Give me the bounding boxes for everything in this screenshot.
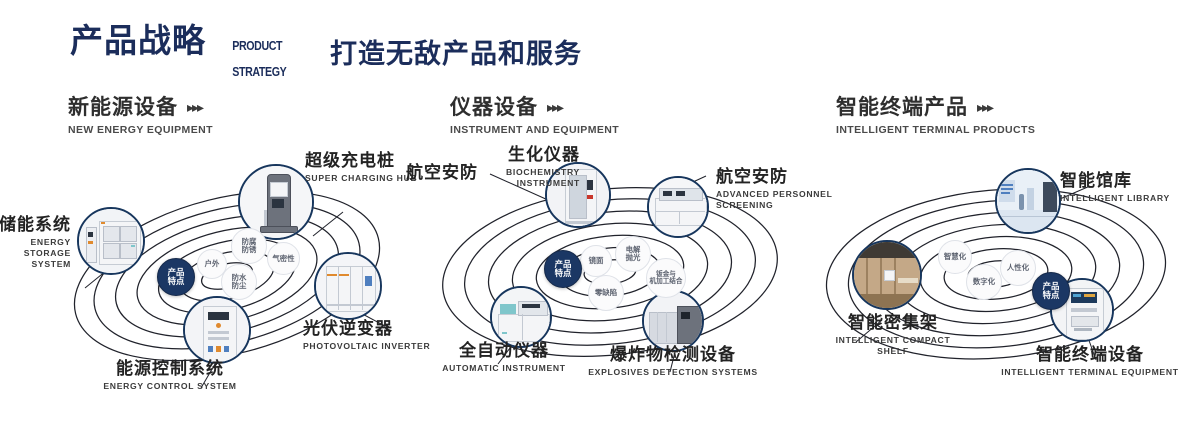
feature-label: 零缺陷 <box>595 289 617 297</box>
energy-control-system-image <box>185 298 249 362</box>
chevron-right-icon: ▸▸▸ <box>977 99 992 116</box>
label-energy-storage-system: 储能系统 ENERGY STORAGE SYSTEM <box>0 216 71 270</box>
node-automatic-instrument[interactable] <box>490 286 552 348</box>
section-header-instrument: 仪器设备 ▸▸▸ INSTRUMENT AND EQUIPMENT <box>450 95 619 136</box>
label-cn: 储能系统 <box>0 216 71 235</box>
core-bubble-product-features: 产品 特点 <box>157 258 195 296</box>
feature-bubble-humanization: 人性化 <box>1000 250 1036 286</box>
feature-label: 人性化 <box>1007 264 1029 272</box>
feature-label: 防腐 防锈 <box>242 238 257 254</box>
section-title-en: NEW ENERGY EQUIPMENT <box>68 124 213 136</box>
advanced-personnel-screening-image <box>649 178 707 236</box>
slide-canvas: 产品战略 PRODUCT STRATEGY 打造无敌产品和服务 新能源设备 ▸▸… <box>0 0 1200 422</box>
feature-bubble-sheetmetal-machining: 钣金与 机加工结合 <box>646 258 686 298</box>
feature-label: 钣金与 机加工结合 <box>650 271 683 285</box>
feature-label: 数字化 <box>973 278 995 286</box>
intelligent-compact-shelf-image <box>854 242 920 308</box>
section-header-new-energy: 新能源设备 ▸▸▸ NEW ENERGY EQUIPMENT <box>68 95 213 136</box>
page-headline: 打造无敌产品和服务 <box>330 32 582 71</box>
label-cn: 智能终端设备 <box>990 346 1190 365</box>
feature-bubble-mirror-finish: 镜面 <box>580 245 612 277</box>
label-explosives-detection-systems: 爆炸物检测设备 EXPLOSIVES DETECTION SYSTEMS <box>566 346 780 378</box>
feature-bubble-anticorrosion: 防腐 防锈 <box>231 228 267 264</box>
feature-label: 镜面 <box>589 257 604 265</box>
intelligent-library-image <box>997 170 1059 232</box>
label-intelligent-library: 智能馆库 INTELLIGENT LIBRARY <box>1060 172 1200 204</box>
core-label: 产品 特点 <box>168 268 185 286</box>
label-en: INTELLIGENT COMPACT SHELF <box>798 335 988 357</box>
node-energy-storage-system[interactable] <box>77 207 145 275</box>
node-energy-control-system[interactable] <box>183 296 251 364</box>
diagram-cluster-new-energy: 储能系统 ENERGY STORAGE SYSTEM 超级充电桩 SUPER C… <box>55 150 415 400</box>
explosives-detection-systems-image <box>644 292 702 350</box>
label-intelligent-terminal-equipment: 智能终端设备 INTELLIGENT TERMINAL EQUIPMENT <box>990 346 1190 378</box>
energy-storage-system-image <box>79 209 143 273</box>
diagram-cluster-intelligent-terminal: 智能馆库 INTELLIGENT LIBRARY 智能密集架 INTELLIGE… <box>810 150 1190 400</box>
section-title-en: INSTRUMENT AND EQUIPMENT <box>450 124 619 136</box>
label-cn: 智能馆库 <box>1060 172 1200 191</box>
label-en: INTELLIGENT TERMINAL EQUIPMENT <box>990 367 1190 378</box>
section-title-cn: 新能源设备 <box>68 95 178 119</box>
feature-bubble-zero-defect: 零缺陷 <box>588 275 624 311</box>
feature-bubble-electropolishing: 电解 抛光 <box>615 236 651 272</box>
label-cn: 能源控制系统 <box>75 360 265 379</box>
feature-bubble-waterproof-dustproof: 防水 防尘 <box>221 264 257 300</box>
feature-label: 防水 防尘 <box>232 274 247 290</box>
label-biochemistry-instrument: 生化仪器 BIOCHEMISTRY INSTRUMENT <box>440 146 580 189</box>
core-label: 产品 特点 <box>555 260 572 278</box>
section-title-cn: 仪器设备 <box>450 95 538 119</box>
label-en: ENERGY STORAGE SYSTEM <box>0 237 71 270</box>
section-title-en: INTELLIGENT TERMINAL PRODUCTS <box>836 124 1035 136</box>
label-cn: 生化仪器 <box>440 146 580 165</box>
automatic-instrument-image <box>492 288 550 346</box>
diagram-cluster-instrument: 航空安防 生化仪器 BIOCHEMISTRY INSTRUMENT 航空安防 A… <box>420 150 800 400</box>
label-en: ENERGY CONTROL SYSTEM <box>75 381 265 392</box>
feature-label: 户外 <box>205 260 220 268</box>
node-intelligent-compact-shelf[interactable] <box>852 240 922 310</box>
feature-label: 电解 抛光 <box>626 246 641 262</box>
label-energy-control-system: 能源控制系统 ENERGY CONTROL SYSTEM <box>75 360 265 392</box>
label-cn: 智能密集架 <box>798 314 988 333</box>
section-title-cn: 智能终端产品 <box>836 95 968 119</box>
feature-bubble-airtightness: 气密性 <box>267 242 300 275</box>
feature-bubble-intelligentization: 智慧化 <box>938 240 972 274</box>
brand-title-en-line2: STRATEGY <box>232 64 286 79</box>
photovoltaic-inverter-image <box>316 254 380 318</box>
brand-title-en: PRODUCT STRATEGY <box>217 26 286 91</box>
brand-title-cn: 产品战略 <box>70 24 206 57</box>
core-bubble-product-features: 产品 特点 <box>544 250 582 288</box>
brand-title-en-line1: PRODUCT <box>232 38 282 53</box>
label-en: EXPLOSIVES DETECTION SYSTEMS <box>566 367 780 378</box>
feature-label: 气密性 <box>272 255 294 263</box>
label-en: BIOCHEMISTRY INSTRUMENT <box>440 167 580 189</box>
feature-label: 智慧化 <box>944 253 966 261</box>
node-explosives-detection-systems[interactable] <box>642 290 704 352</box>
node-photovoltaic-inverter[interactable] <box>314 252 382 320</box>
label-cn: 爆炸物检测设备 <box>566 346 780 365</box>
core-bubble-product-features: 产品 特点 <box>1032 272 1070 310</box>
node-intelligent-library[interactable] <box>995 168 1061 234</box>
chevron-right-icon: ▸▸▸ <box>187 99 202 116</box>
section-header-intelligent-terminal: 智能终端产品 ▸▸▸ INTELLIGENT TERMINAL PRODUCTS <box>836 95 1035 136</box>
feature-bubble-digitalization: 数字化 <box>966 264 1002 300</box>
label-intelligent-compact-shelf: 智能密集架 INTELLIGENT COMPACT SHELF <box>798 314 988 357</box>
brand-title: 产品战略 PRODUCT STRATEGY <box>70 24 302 91</box>
node-advanced-personnel-screening[interactable] <box>647 176 709 238</box>
label-en: INTELLIGENT LIBRARY <box>1060 193 1200 204</box>
chevron-right-icon: ▸▸▸ <box>547 99 562 116</box>
core-label: 产品 特点 <box>1043 282 1060 300</box>
